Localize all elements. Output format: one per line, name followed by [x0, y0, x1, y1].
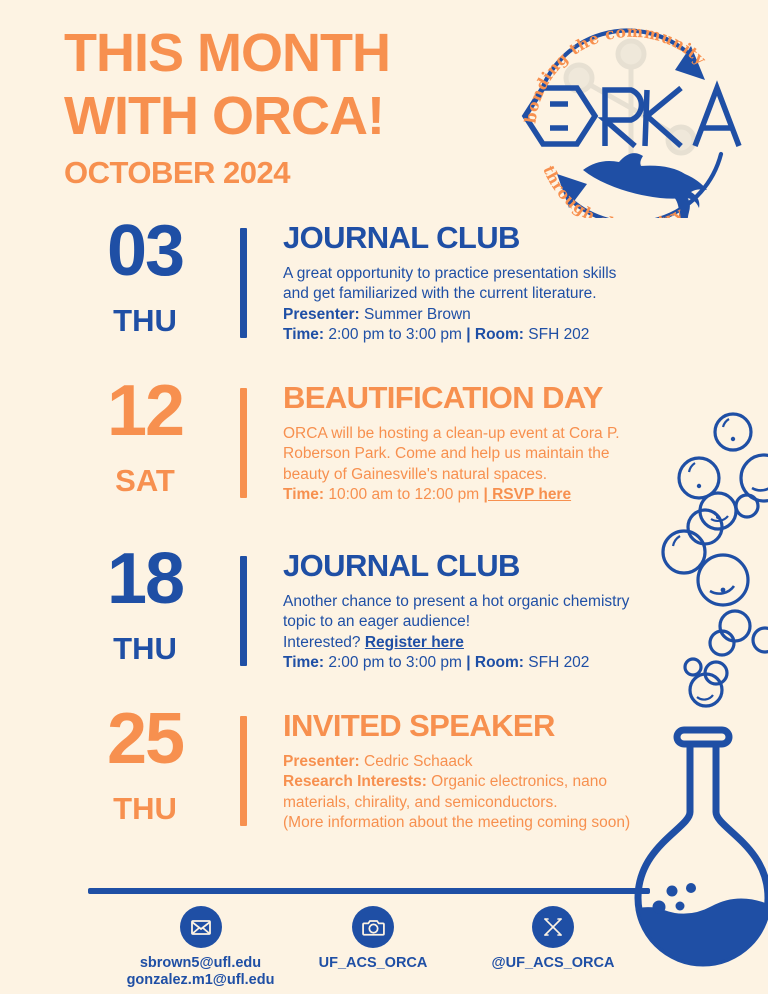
event-day-number: 03 — [60, 222, 230, 281]
envelope-icon — [180, 906, 222, 948]
research-label: Research Interests: — [283, 773, 427, 790]
event-day-number: 12 — [60, 382, 230, 441]
time-label: Time: — [283, 486, 324, 503]
time-value: 10:00 am to 12:00 pm — [324, 486, 483, 503]
x-handle: @UF_ACS_ORCA — [478, 955, 628, 972]
poster-header: THIS MONTH WITH ORCA! OCTOBER 2024 — [0, 0, 768, 222]
event-time-line: Time: 2:00 pm to 3:00 pm | Room: SFH 202 — [283, 325, 713, 345]
event-row: 25 THU INVITED SPEAKER Presenter: Cedric… — [0, 710, 768, 875]
room-value: SFH 202 — [524, 654, 589, 671]
events-list: 03 THU JOURNAL CLUB A great opportunity … — [0, 222, 768, 875]
event-divider-bar — [240, 716, 247, 826]
instagram-camera-icon — [352, 906, 394, 948]
room-value: SFH 202 — [524, 326, 589, 343]
event-title: JOURNAL CLUB — [283, 222, 713, 253]
event-time-line: Time: 10:00 am to 12:00 pm | RSVP here — [283, 485, 713, 505]
event-weekday: SAT — [60, 465, 230, 496]
event-row: 03 THU JOURNAL CLUB A great opportunity … — [0, 222, 768, 382]
event-desc-line: topic to an eager audience! — [283, 612, 713, 632]
social-x[interactable]: @UF_ACS_ORCA — [478, 906, 628, 972]
presenter-value: Summer Brown — [360, 306, 471, 323]
time-label: Time: — [283, 654, 324, 671]
event-divider-bar — [240, 388, 247, 498]
instagram-handle: UF_ACS_ORCA — [313, 955, 433, 972]
event-weekday: THU — [60, 633, 230, 664]
register-link[interactable]: Register here — [365, 634, 464, 651]
orca-logo: bonding the community through chemistry — [505, 18, 755, 218]
event-weekday: THU — [60, 305, 230, 336]
time-value: 2:00 pm to 3:00 pm — [324, 326, 466, 343]
room-label: | Room: — [466, 654, 524, 671]
event-date: 18 THU — [60, 550, 230, 664]
event-desc-line: A great opportunity to practice presenta… — [283, 264, 713, 284]
event-desc-line: ORCA will be hosting a clean-up event at… — [283, 424, 713, 444]
event-desc-line: Roberson Park. Come and help us maintain… — [283, 444, 713, 464]
event-date: 03 THU — [60, 222, 230, 336]
time-label: Time: — [283, 326, 324, 343]
event-presenter-line: Presenter: Summer Brown — [283, 305, 713, 325]
event-title: INVITED SPEAKER — [283, 710, 713, 741]
event-date: 25 THU — [60, 710, 230, 824]
event-weekday: THU — [60, 793, 230, 824]
event-desc-line: materials, chirality, and semiconductors… — [283, 793, 713, 813]
event-desc-line: and get familiarized with the current li… — [283, 284, 713, 304]
poster-footer: sbrown5@ufl.edu gonzalez.m1@ufl.edu UF_A… — [0, 880, 768, 994]
event-divider-bar — [240, 228, 247, 338]
presenter-label: Presenter: — [283, 306, 360, 323]
event-desc-line: (More information about the meeting comi… — [283, 813, 713, 833]
event-row: 12 SAT BEAUTIFICATION DAY ORCA will be h… — [0, 382, 768, 550]
x-twitter-icon — [532, 906, 574, 948]
social-links: sbrown5@ufl.edu gonzalez.m1@ufl.edu UF_A… — [88, 906, 650, 992]
event-title: BEAUTIFICATION DAY — [283, 382, 713, 413]
event-title: JOURNAL CLUB — [283, 550, 713, 581]
event-desc-line: beauty of Gainesville's natural spaces. — [283, 465, 713, 485]
time-value: 2:00 pm to 3:00 pm — [324, 654, 466, 671]
event-date: 12 SAT — [60, 382, 230, 496]
event-desc-line: Another chance to present a hot organic … — [283, 592, 713, 612]
event-day-number: 25 — [60, 710, 230, 769]
event-body: INVITED SPEAKER Presenter: Cedric Schaac… — [283, 710, 713, 834]
page-subtitle-month: OCTOBER 2024 — [64, 157, 494, 188]
event-research-line: Research Interests: Organic electronics,… — [283, 772, 713, 792]
event-day-number: 18 — [60, 550, 230, 609]
event-row: 18 THU JOURNAL CLUB Another chance to pr… — [0, 550, 768, 710]
page-title-line2: WITH ORCA! — [64, 91, 494, 142]
presenter-value: Cedric Schaack — [360, 753, 473, 770]
interested-text: Interested? — [283, 634, 365, 651]
title-block: THIS MONTH WITH ORCA! OCTOBER 2024 — [64, 28, 494, 188]
event-body: JOURNAL CLUB Another chance to present a… — [283, 550, 713, 674]
rsvp-link[interactable]: | RSVP here — [483, 486, 571, 503]
svg-text:bonding the community: bonding the community — [520, 22, 710, 125]
email-label-2: gonzalez.m1@ufl.edu — [113, 972, 288, 989]
logo-arc-top-text: bonding the community — [520, 22, 710, 125]
event-time-line: Time: 2:00 pm to 3:00 pm | Room: SFH 202 — [283, 653, 713, 673]
room-label: | Room: — [466, 326, 524, 343]
event-body: JOURNAL CLUB A great opportunity to prac… — [283, 222, 713, 346]
event-divider-bar — [240, 556, 247, 666]
research-value: Organic electronics, nano — [427, 773, 607, 790]
page-title-line1: THIS MONTH — [64, 28, 494, 79]
event-presenter-line: Presenter: Cedric Schaack — [283, 752, 713, 772]
poster-root: THIS MONTH WITH ORCA! OCTOBER 2024 — [0, 0, 768, 994]
event-body: BEAUTIFICATION DAY ORCA will be hosting … — [283, 382, 713, 506]
social-instagram[interactable]: UF_ACS_ORCA — [313, 906, 433, 972]
presenter-label: Presenter: — [283, 753, 360, 770]
event-register-line: Interested? Register here — [283, 633, 713, 653]
footer-divider — [88, 888, 650, 894]
email-label-1: sbrown5@ufl.edu — [113, 955, 288, 972]
social-email[interactable]: sbrown5@ufl.edu gonzalez.m1@ufl.edu — [113, 906, 288, 990]
